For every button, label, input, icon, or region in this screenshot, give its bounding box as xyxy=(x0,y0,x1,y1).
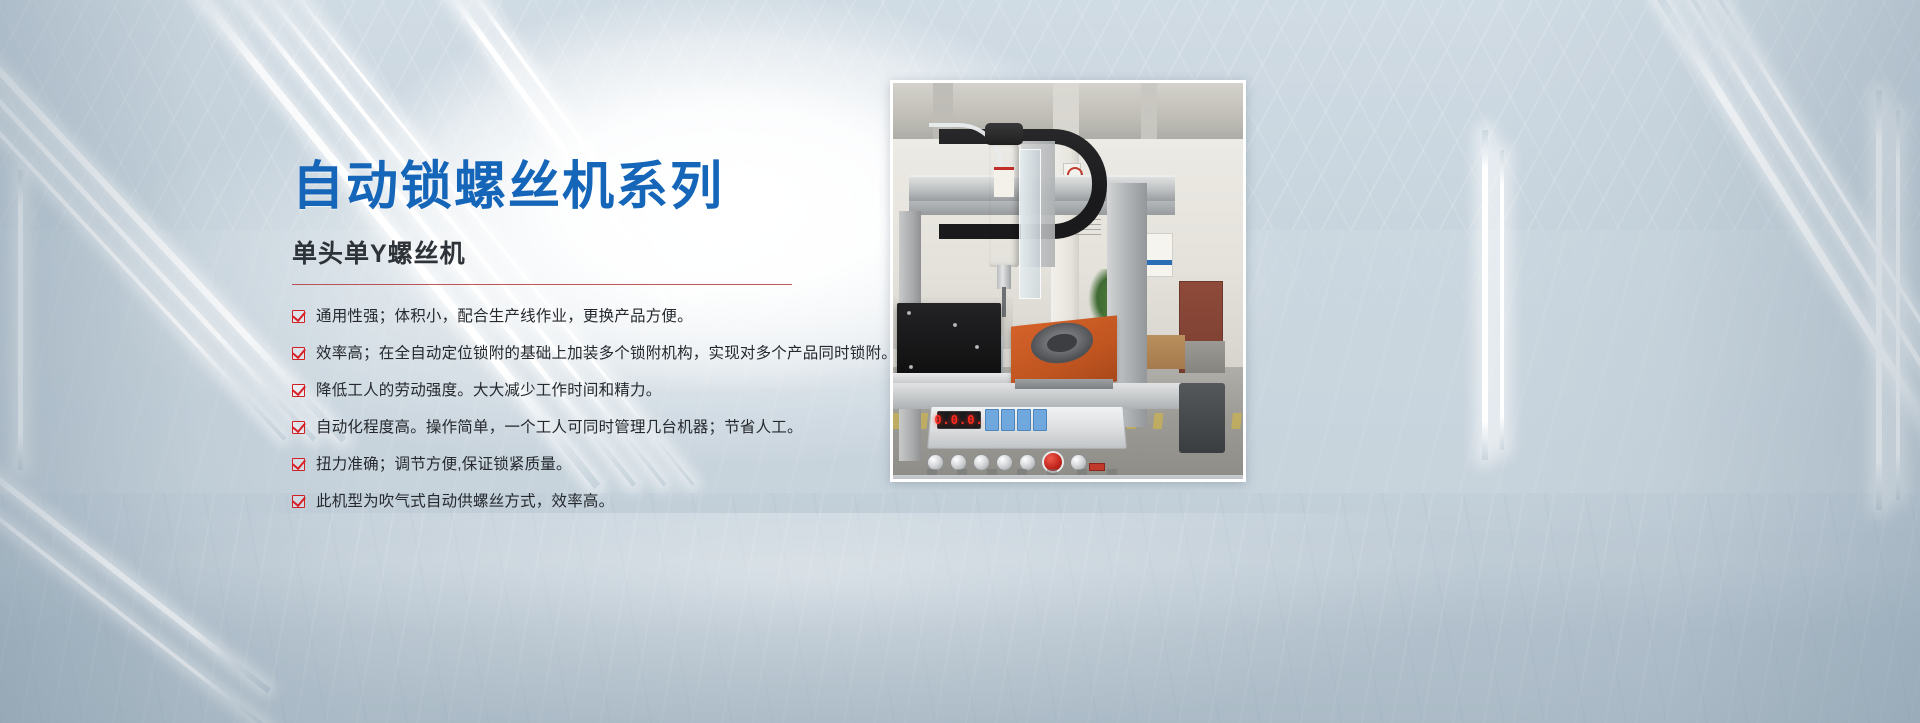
screw-head xyxy=(975,345,979,349)
banner-text-block: 自动锁螺丝机系列 单头单Y螺丝机 通用性强；体积小，配合生产线作业，更换产品方便… xyxy=(292,158,892,529)
led-display: 0.0.0. xyxy=(937,411,981,429)
screwdriver-neck xyxy=(997,265,1011,289)
feature-text: 扭力准确；调节方便,保证锁紧质量。 xyxy=(316,455,572,476)
machine-base xyxy=(893,475,1243,482)
checkbox-icon xyxy=(292,495,305,508)
checkbox-icon xyxy=(292,384,305,397)
power-switch[interactable] xyxy=(1089,463,1105,471)
panel-button[interactable] xyxy=(1001,409,1015,431)
checkbox-icon xyxy=(292,458,305,471)
feature-text: 效率高；在全自动定位锁附的基础上加装多个锁附机构，实现对多个产品同时锁附。 xyxy=(316,344,897,365)
electric-screwdriver xyxy=(989,143,1019,267)
feature-list: 通用性强；体积小，配合生产线作业，更换产品方便。 效率高；在全自动定位锁附的基础… xyxy=(292,307,892,513)
panel-knob[interactable] xyxy=(950,454,967,471)
led-display-value: 0.0.0. xyxy=(934,413,983,427)
screwdriver-label xyxy=(994,167,1014,197)
screwdriver-bit xyxy=(1002,287,1006,317)
screw-head xyxy=(909,365,913,369)
photo-cart xyxy=(1185,341,1225,373)
panel-button[interactable] xyxy=(1033,409,1047,431)
panel-knob[interactable] xyxy=(996,454,1013,471)
page-subtitle: 单头单Y螺丝机 xyxy=(292,234,892,270)
photo-ceiling-beam xyxy=(1141,83,1157,143)
screw-head xyxy=(953,323,957,327)
panel-button[interactable] xyxy=(985,409,999,431)
list-item: 扭力准确；调节方便,保证锁紧质量。 xyxy=(292,455,892,476)
panel-knob[interactable] xyxy=(1070,454,1087,471)
checkbox-icon xyxy=(292,421,305,434)
product-photo: 0.0.0. xyxy=(890,80,1246,482)
photo-side-equipment xyxy=(1179,383,1225,453)
list-item: 降低工人的劳动强度。大大减少工作时间和精力。 xyxy=(292,381,892,402)
page-title: 自动锁螺丝机系列 xyxy=(292,158,892,216)
list-item: 此机型为吹气式自动供螺丝方式，效率高。 xyxy=(292,492,892,513)
panel-knob[interactable] xyxy=(927,454,944,471)
panel-button[interactable] xyxy=(1017,409,1031,431)
panel-button-row[interactable] xyxy=(985,409,1047,431)
checkbox-icon xyxy=(292,310,305,323)
product-banner: 自动锁螺丝机系列 单头单Y螺丝机 通用性强；体积小，配合生产线作业，更换产品方便… xyxy=(0,0,1920,723)
list-item: 自动化程度高。操作简单，一个工人可同时管理几台机器；节省人工。 xyxy=(292,418,892,439)
screw-head xyxy=(907,311,911,315)
list-item: 通用性强；体积小，配合生产线作业，更换产品方便。 xyxy=(292,307,892,328)
y-axis-rail xyxy=(1015,379,1113,389)
feature-text: 降低工人的劳动强度。大大减少工作时间和精力。 xyxy=(316,381,661,402)
screwdriver-cap xyxy=(985,123,1023,145)
bottom-vignette xyxy=(0,563,1920,723)
feature-text: 自动化程度高。操作简单，一个工人可同时管理几台机器；节省人工。 xyxy=(316,418,803,439)
title-divider xyxy=(292,284,792,285)
list-item: 效率高；在全自动定位锁附的基础上加装多个锁附机构，实现对多个产品同时锁附。 xyxy=(292,344,892,365)
feature-text: 此机型为吹气式自动供螺丝方式，效率高。 xyxy=(316,492,614,513)
safety-guard xyxy=(1019,149,1041,299)
checkbox-icon xyxy=(292,347,305,360)
light-bar-decoration xyxy=(1482,130,1488,460)
panel-knob[interactable] xyxy=(1019,454,1036,471)
panel-knob[interactable] xyxy=(973,454,990,471)
feature-text: 通用性强；体积小，配合生产线作业，更换产品方便。 xyxy=(316,307,693,328)
